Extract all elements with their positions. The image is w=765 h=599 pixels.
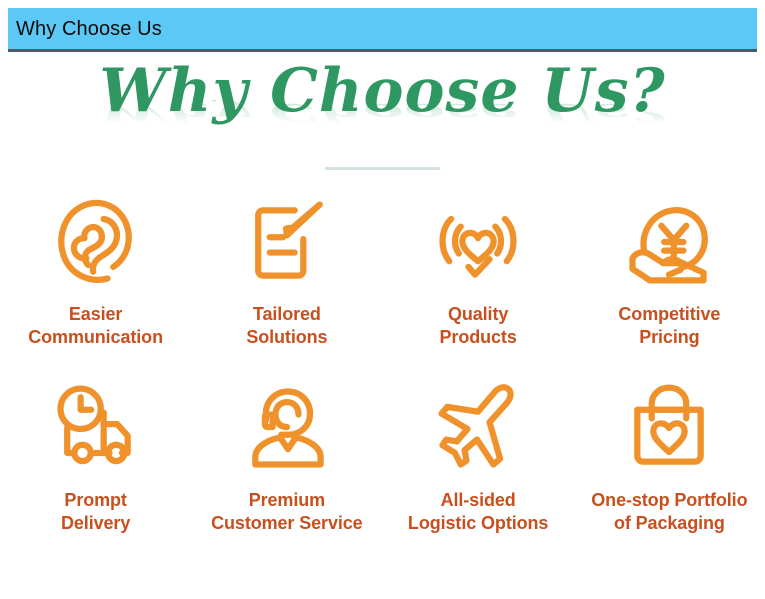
feature-item-quality-products[interactable]: Quality Products (383, 190, 574, 349)
window-title: Why Choose Us (16, 19, 162, 39)
divider-wrapper (0, 167, 765, 185)
hand-coin-yen-icon (617, 190, 721, 294)
feature-item-competitive-pricing[interactable]: Competitive Pricing (574, 190, 765, 349)
feature-label: Tailored Solutions (246, 303, 327, 349)
delivery-truck-clock-icon (44, 376, 148, 480)
document-pencil-icon (235, 190, 339, 294)
window-title-bar: Why Choose Us (8, 8, 757, 52)
feature-label: Prompt Delivery (61, 489, 130, 535)
airplane-icon (426, 376, 530, 480)
page-root: Why Choose Us Why Choose Us? Why Choose … (0, 0, 765, 599)
main-content: Why Choose Us? Why Choose Us? (0, 55, 765, 599)
feature-label: Easier Communication (28, 303, 163, 349)
shopping-bag-heart-icon (617, 376, 721, 480)
ear-listening-icon (44, 190, 148, 294)
title-divider (325, 167, 440, 170)
feature-label: All-sided Logistic Options (408, 489, 548, 535)
feature-label: Quality Products (440, 303, 517, 349)
feature-grid: Easier Communication Tailored Solutions (0, 190, 765, 535)
feature-label: One-stop Portfolio of Packaging (591, 489, 747, 535)
hero-section: Why Choose Us? Why Choose Us? (0, 55, 765, 167)
heart-signal-check-icon (426, 190, 530, 294)
headset-agent-icon (235, 376, 339, 480)
feature-row-2: Prompt Delivery Premium Customer Service (0, 376, 765, 535)
feature-item-logistic-options[interactable]: All-sided Logistic Options (383, 376, 574, 535)
feature-item-packaging-portfolio[interactable]: One-stop Portfolio of Packaging (574, 376, 765, 535)
feature-item-prompt-delivery[interactable]: Prompt Delivery (0, 376, 191, 535)
feature-item-tailored-solutions[interactable]: Tailored Solutions (191, 190, 382, 349)
feature-row-1: Easier Communication Tailored Solutions (0, 190, 765, 349)
feature-label: Competitive Pricing (618, 303, 720, 349)
page-title: Why Choose Us? (0, 61, 765, 121)
feature-item-premium-customer-service[interactable]: Premium Customer Service (191, 376, 382, 535)
feature-item-easier-communication[interactable]: Easier Communication (0, 190, 191, 349)
feature-label: Premium Customer Service (211, 489, 362, 535)
